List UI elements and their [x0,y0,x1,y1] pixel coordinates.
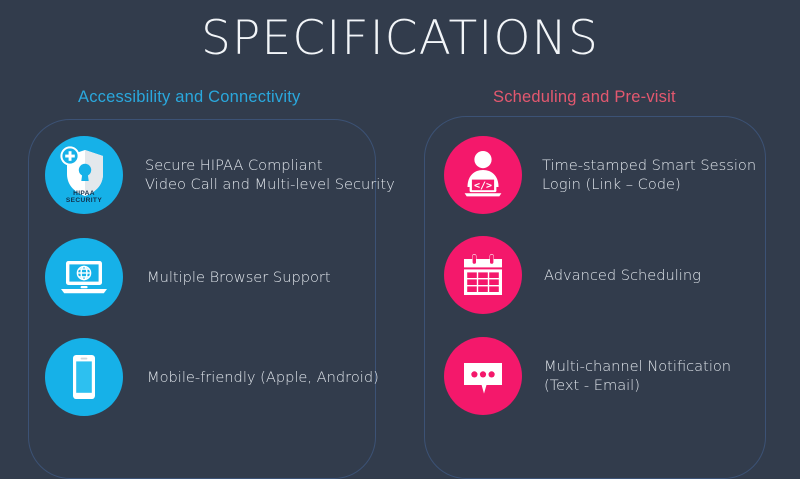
page-title: SPECIFICATIONS [0,8,800,70]
list-item[interactable]: Mobile-friendly (Apple, Android) [45,338,379,416]
list-item-label: Secure HIPAA Compliant Video Call and Mu… [145,156,395,194]
list-item-label: Multi-channel Notification (Text - Email… [544,357,731,395]
list-item-label: Multiple Browser Support [147,268,331,287]
list-item-label: Mobile-friendly (Apple, Android) [147,368,379,387]
laptop-globe-icon [45,238,123,316]
hipaa-shield-icon: HIPAASECURITY [45,136,123,214]
list-item[interactable]: </> Time-stamped Smart Session Login (Li… [444,136,756,214]
mobile-phone-icon [45,338,123,416]
list-item-label: Time-stamped Smart Session Login (Link –… [542,156,756,194]
calendar-icon [444,236,522,314]
chat-bubble-icon [444,337,522,415]
slide-canvas: SPECIFICATIONS Accessibility and Connect… [0,0,800,448]
column-header-scheduling: Scheduling and Pre-visit [493,88,676,107]
user-laptop-code-icon: </> [444,136,522,214]
list-item[interactable]: Multiple Browser Support [45,238,331,316]
list-item[interactable]: Multi-channel Notification (Text - Email… [444,337,731,415]
column-header-accessibility: Accessibility and Connectivity [78,88,300,107]
list-item-label: Advanced Scheduling [544,266,701,285]
svg-text:</>: </> [474,181,492,192]
list-item[interactable]: Advanced Scheduling [444,236,701,314]
list-item[interactable]: HIPAASECURITY Secure HIPAA Compliant Vid… [45,136,395,214]
